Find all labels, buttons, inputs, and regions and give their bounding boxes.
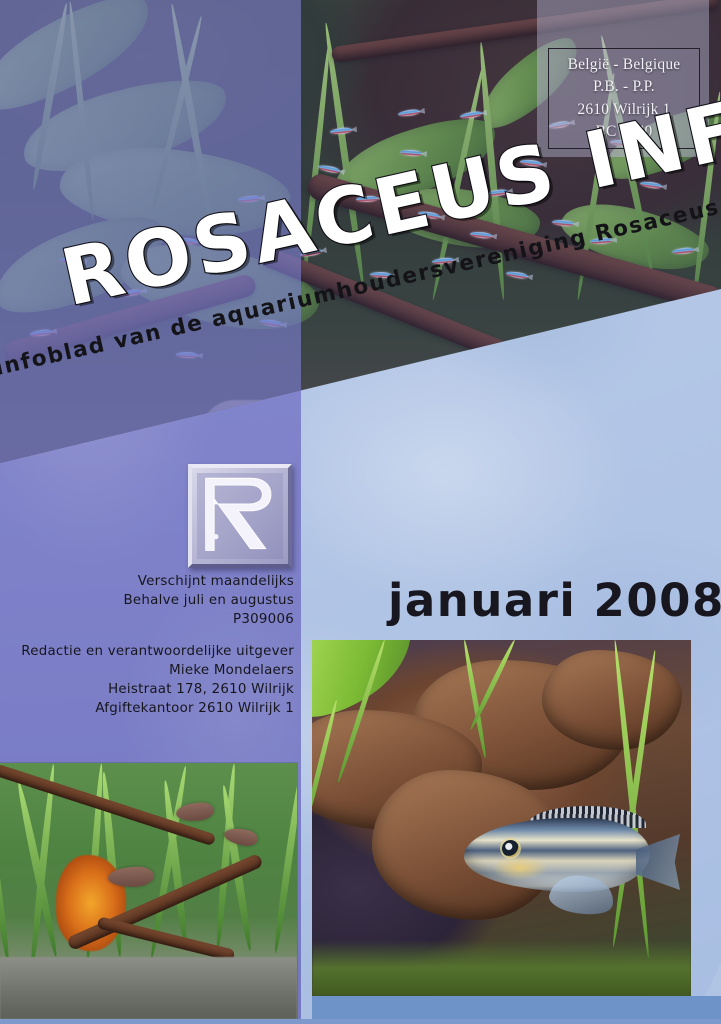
postal-line-city: 2610 Wilrijk 1 — [577, 99, 670, 121]
gravel-substrate — [0, 957, 297, 1019]
imprint-editor-address: Heistraat 178, 2610 Wilrijk — [8, 680, 294, 699]
imprint-frequency: Verschijnt maandelijks — [8, 572, 294, 591]
magazine-cover-page: België - Belgique P.B. - P.P. 2610 Wilri… — [0, 0, 721, 1024]
bottom-left-photo-image — [0, 763, 297, 1019]
imprint-editor-name: Mieke Mondelaers — [8, 661, 294, 680]
rosaceus-logo — [188, 464, 292, 568]
bottom-edge-strip — [0, 1019, 721, 1024]
imprint-spacer — [8, 629, 294, 642]
issue-date: januari 2008 — [388, 574, 721, 627]
top-photo-left-violet-overlay — [0, 0, 301, 470]
bottom-right-photo-image — [312, 640, 691, 996]
logo-r-fish-icon — [197, 473, 283, 559]
imprint-post-office: Afgiftekantoor 2610 Wilrijk 1 — [8, 699, 294, 718]
imprint-block: Verschijnt maandelijks Behalve juli en a… — [8, 572, 294, 718]
imprint-permit-code: P309006 — [8, 610, 294, 629]
postal-line-country: België - Belgique — [568, 54, 681, 76]
postal-franking-box: België - Belgique P.B. - P.P. 2610 Wilri… — [548, 48, 700, 149]
imprint-exception: Behalve juli en augustus — [8, 591, 294, 610]
cichlid-fish — [464, 806, 672, 902]
postal-line-bc: BC 4840 — [596, 121, 653, 143]
planted-aquarium-photo — [0, 763, 297, 1019]
cichlid-driftwood-photo — [312, 640, 691, 996]
imprint-editor-label: Redactie en verantwoordelijke uitgever — [8, 642, 294, 661]
logo-inner-plate — [197, 473, 283, 559]
moss-foreground — [312, 940, 691, 996]
postal-line-pb-pp: P.B. - P.P. — [593, 76, 655, 98]
